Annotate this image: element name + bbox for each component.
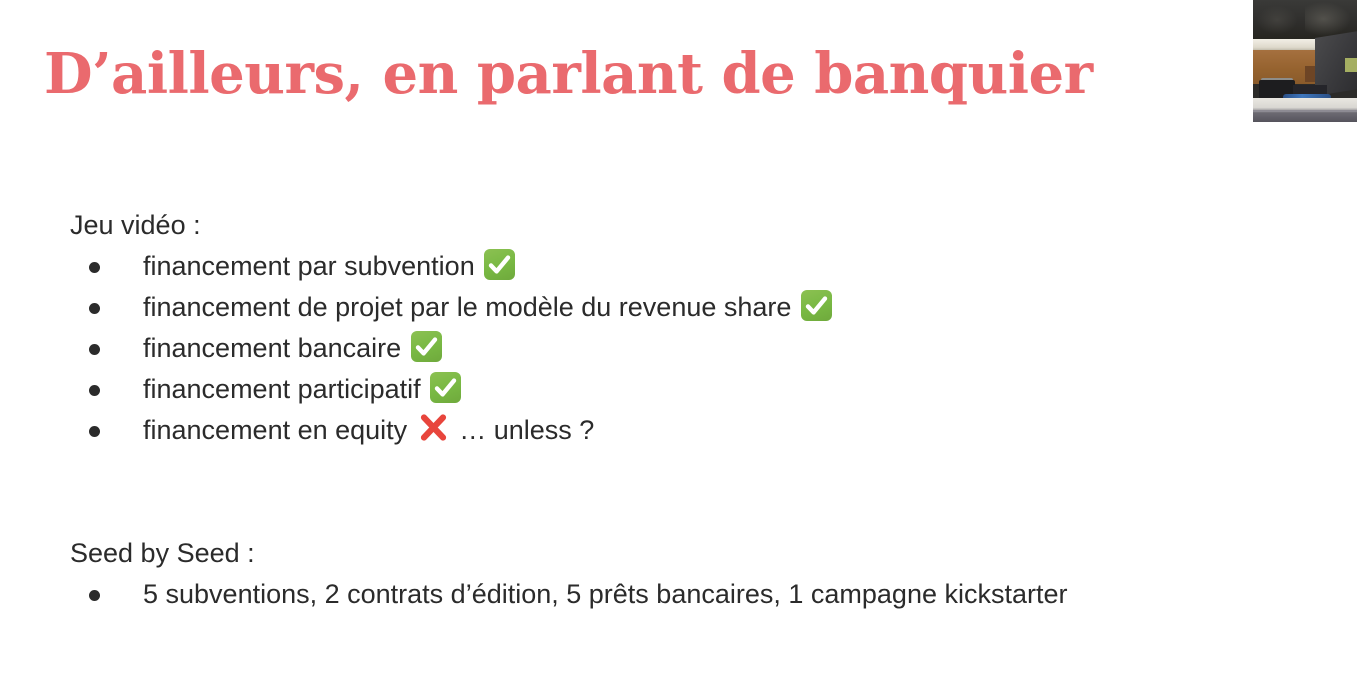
white-check-mark-icon [411, 331, 442, 362]
bullet-list: financement par subvention financement d… [70, 246, 1320, 451]
bullet-dot-icon [89, 262, 100, 273]
blackboard-smudge [1305, 2, 1351, 36]
screen-glow [1345, 58, 1357, 72]
list-item-label: financement en equity [143, 415, 407, 445]
blackboard-smudge-secondary [1257, 6, 1297, 34]
list-item: 5 subventions, 2 contrats d’édition, 5 p… [70, 574, 1320, 615]
bullet-dot-icon [89, 344, 100, 355]
speaker-camera-overlay [1253, 0, 1357, 122]
section-seed-by-seed: Seed by Seed : 5 subventions, 2 contrats… [70, 533, 1320, 615]
bullet-dot-icon [89, 426, 100, 437]
list-item: financement en equity … unless ? [70, 410, 1320, 451]
list-item-label: financement par subvention [143, 251, 475, 281]
cross-mark-icon [417, 411, 450, 444]
section-spacer [70, 451, 1320, 533]
list-item: financement bancaire [70, 328, 1320, 369]
white-check-mark-icon [484, 249, 515, 280]
section-jeu-video: Jeu vidéo : financement par subvention f… [70, 205, 1320, 451]
list-item-label: 5 subventions, 2 contrats d’édition, 5 p… [143, 579, 1068, 609]
list-item: financement par subvention [70, 246, 1320, 287]
list-item-label: financement bancaire [143, 333, 401, 363]
slide-body: Jeu vidéo : financement par subvention f… [70, 205, 1320, 615]
bullet-dot-icon [89, 590, 100, 601]
presentation-slide: D’ailleurs, en parlant de banquier Jeu v… [0, 0, 1357, 687]
list-item-label: financement de projet par le modèle du r… [143, 292, 791, 322]
list-item-label: financement participatif [143, 374, 421, 404]
bullet-dot-icon [89, 385, 100, 396]
list-item: financement participatif [70, 369, 1320, 410]
white-check-mark-icon [430, 372, 461, 403]
slide-title: D’ailleurs, en parlant de banquier [44, 41, 1093, 107]
desk-edge-line [1253, 110, 1357, 112]
bullet-list: 5 subventions, 2 contrats d’édition, 5 p… [70, 574, 1320, 615]
list-item: financement de projet par le modèle du r… [70, 287, 1320, 328]
list-item-trailing-label: … unless ? [459, 415, 594, 445]
white-check-mark-icon [801, 290, 832, 321]
section-heading: Jeu vidéo : [70, 205, 1320, 246]
section-heading: Seed by Seed : [70, 533, 1320, 574]
bullet-dot-icon [89, 303, 100, 314]
